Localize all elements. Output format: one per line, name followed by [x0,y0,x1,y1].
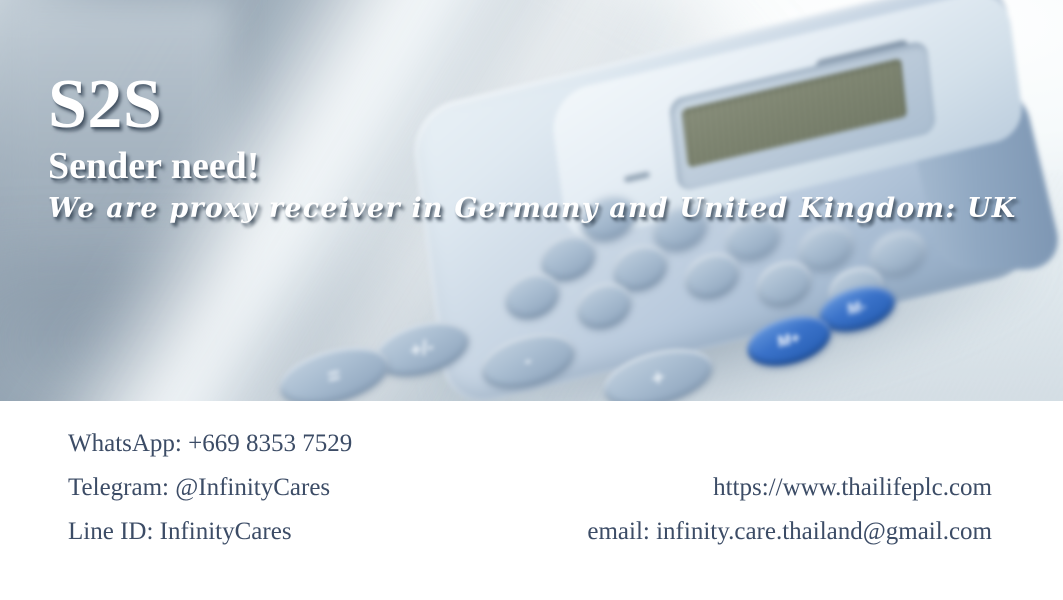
contact-footer: WhatsApp: +669 8353 7529 Telegram: @Infi… [0,401,1063,600]
headline-block: S2S Sender need! We are proxy receiver i… [48,68,1028,226]
contact-right-column: https://www.thailifeplc.com email: infin… [587,466,992,554]
contact-left-column: WhatsApp: +669 8353 7529 Telegram: @Infi… [68,422,352,554]
telegram-line[interactable]: Telegram: @InfinityCares [68,466,352,510]
lineid-line[interactable]: Line ID: InfinityCares [68,510,352,554]
website-line[interactable]: https://www.thailifeplc.com [587,466,992,510]
calculator-photo: M- M+ +/- - = + S2S Sender need! We are … [0,0,1063,401]
brand-title: S2S [48,68,1028,142]
subtitle: Sender need! [48,144,1028,188]
promo-banner: M- M+ +/- - = + S2S Sender need! We are … [0,0,1063,600]
whatsapp-line[interactable]: WhatsApp: +669 8353 7529 [68,422,352,466]
tagline: We are proxy receiver in Germany and Uni… [48,192,1028,226]
email-line[interactable]: email: infinity.care.thailand@gmail.com [587,510,992,554]
